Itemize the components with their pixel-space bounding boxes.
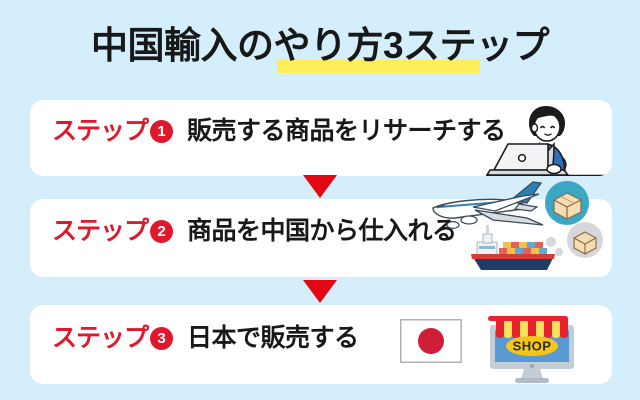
step-card-1: ステップ 1 販売する商品をリサーチする <box>30 100 612 176</box>
step-2-badge: ステップ 2 商品を中国から仕入れる <box>52 219 457 244</box>
step-1-number: 1 <box>150 120 173 143</box>
step-card-3: ステップ 3 日本で販売する <box>30 305 612 384</box>
title-text: 中国輸入のやり方3ステップ <box>91 25 549 66</box>
infographic-root: 中国輸入のやり方3ステップ ステップ 1 販売する商品をリサーチする <box>0 0 640 400</box>
step-3-number: 3 <box>150 327 173 350</box>
step-3-badge: ステップ 3 日本で販売する <box>52 326 359 351</box>
step-2-number: 2 <box>150 220 173 243</box>
japan-flag-icon <box>400 319 462 363</box>
step-3-title: 日本で販売する <box>187 326 359 351</box>
step-1-label: ステップ <box>52 119 148 144</box>
step-card-2: ステップ 2 商品を中国から仕入れる <box>30 199 612 277</box>
step-1-title: 販売する商品をリサーチする <box>187 119 506 144</box>
arrow-down-1-icon <box>303 175 337 198</box>
shop-sign-text: SHOP <box>513 339 552 354</box>
page-title: 中国輸入のやり方3ステップ <box>0 18 640 80</box>
arrow-down-2-icon <box>303 280 337 303</box>
step-3-label: ステップ <box>52 326 148 351</box>
step-1-badge: ステップ 1 販売する商品をリサーチする <box>52 119 506 144</box>
step-2-label: ステップ <box>52 219 148 244</box>
step-2-title: 商品を中国から仕入れる <box>187 219 457 244</box>
shop-monitor-icon: SHOP <box>474 309 590 384</box>
